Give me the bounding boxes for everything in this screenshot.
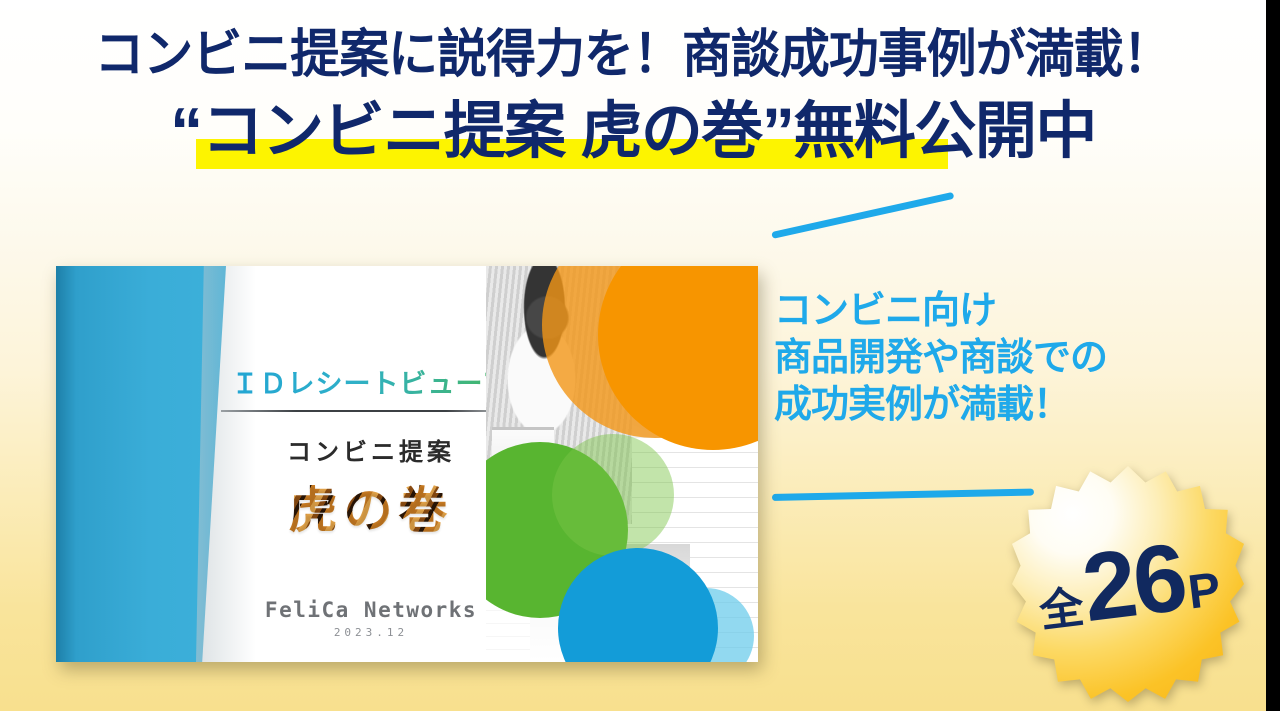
- headline-line-2: “コンビニ提案 虎の巻”無料公開中: [170, 97, 1096, 166]
- quote-close: ”: [762, 94, 794, 168]
- side-copy-block: コンビニ向け 商品開発や商談での 成功実例が満載！: [774, 288, 1194, 429]
- right-black-rail: [1266, 0, 1280, 711]
- badge-number: 26: [1078, 530, 1190, 638]
- promo-banner: コンビニ提案に説得力を！商談成功事例が満載！ “コンビニ提案 虎の巻”無料公開中…: [0, 0, 1280, 711]
- badge-text-wrap: 全 26 P: [998, 453, 1257, 711]
- cover-divider: [221, 410, 521, 412]
- ebook-cover[interactable]: ＩＤレシートビューア コンビニ提案 虎の巻 FeliCa Networks 20…: [56, 266, 758, 662]
- side-copy-line-3: 成功実例が満載！: [774, 382, 1194, 429]
- side-copy-line-1: コンビニ向け: [774, 288, 1194, 335]
- side-copy-line-2: 商品開発や商談での: [774, 335, 1194, 382]
- quote-open: “: [170, 94, 202, 168]
- headline-line-1: コンビニ提案に説得力を！商談成功事例が満載！: [25, 28, 1240, 83]
- circle-green-soft: [552, 434, 674, 556]
- headline-line-2-wrap: “コンビニ提案 虎の巻”無料公開中: [170, 97, 1096, 166]
- cover-photo-collage: [486, 266, 758, 662]
- page-count-badge: 全 26 P: [1012, 466, 1244, 702]
- headline-tail-text: 無料公開中: [793, 97, 1096, 166]
- headline-highlighted-text: コンビニ提案 虎の巻: [202, 97, 762, 166]
- badge-inner: 全 26 P: [1032, 525, 1224, 642]
- badge-prefix: 全: [1037, 586, 1086, 635]
- badge-unit: P: [1186, 566, 1224, 618]
- headline-block: コンビニ提案に説得力を！商談成功事例が満載！ “コンビニ提案 虎の巻”無料公開中: [0, 28, 1266, 166]
